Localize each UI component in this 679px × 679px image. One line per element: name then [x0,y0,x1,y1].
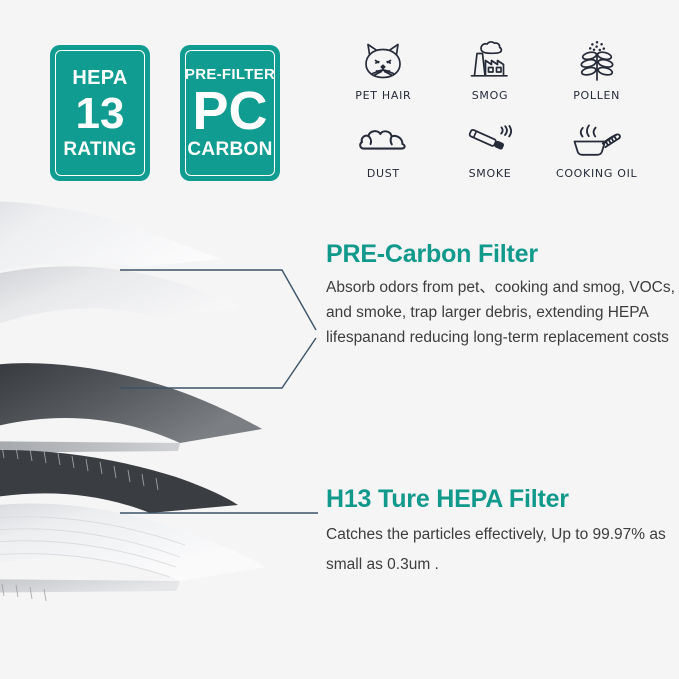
pollutant-label: POLLEN [573,89,620,102]
pollutant-item-smog: SMOG [437,38,544,116]
badge-inner-frame: PRE-FILTER PC CARBON [185,50,275,176]
pollutant-item-cooking-oil: COOKING OIL [543,116,650,194]
callout-title: PRE-Carbon Filter [326,240,676,269]
cat-face-icon [359,38,407,86]
pollutant-item-dust: DUST [330,116,437,194]
frying-pan-oil-icon [569,116,625,164]
pollutant-label: PET HAIR [355,89,411,102]
pollutant-item-pollen: POLLEN [543,38,650,116]
leader-line-hepa [118,504,328,524]
badge-pre-filter-pc-carbon: PRE-FILTER PC CARBON [180,45,280,181]
pollutant-label: SMOG [472,89,508,102]
pollen-plant-icon [573,38,621,86]
callout-body: Absorb odors from pet、cooking and smog, … [326,275,676,350]
callout-hepa-filter: H13 Ture HEPA Filter Catches the particl… [326,485,676,580]
callout-title: H13 Ture HEPA Filter [326,485,676,514]
badge-top-label: PRE-FILTER [185,67,275,82]
pollutant-item-pet-hair: PET HAIR [330,38,437,116]
factory-smog-icon [466,38,514,86]
callout-pre-carbon-filter: PRE-Carbon Filter Absorb odors from pet、… [326,240,676,350]
badge-top-label: HEPA [72,68,127,88]
badge-big-label: PC [192,84,267,138]
pollutant-label: COOKING OIL [556,167,637,180]
badge-hepa-13-rating: HEPA 13 RATING [50,45,150,181]
badge-big-label: 13 [76,92,125,136]
pollutant-label: DUST [367,167,400,180]
cigarette-smoke-icon [464,116,516,164]
badge-bottom-label: CARBON [187,140,272,159]
infographic-canvas: HEPA 13 RATING PRE-FILTER PC CARBON [0,0,679,679]
pollutant-item-smoke: SMOKE [437,116,544,194]
dust-cloud-icon [357,116,409,164]
leader-line-pre-carbon [118,258,328,408]
badge-bottom-label: RATING [63,140,136,159]
callout-body: Catches the particles effectively, Up to… [326,520,676,580]
pollutant-label: SMOKE [469,167,512,180]
badge-inner-frame: HEPA 13 RATING [55,50,145,176]
pollutant-icon-grid: PET HAIR SMOG [330,38,650,194]
